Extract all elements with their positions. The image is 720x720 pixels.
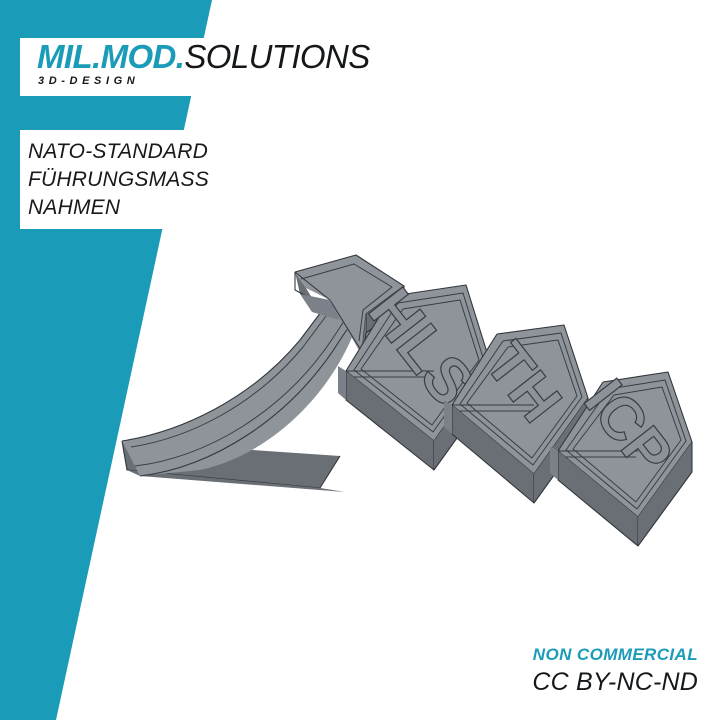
subtitle-line-3: NAHMEN [28, 194, 320, 222]
brand-logo-prefix: MIL.MOD. [37, 38, 184, 75]
logo-panel: MIL.MOD.SOLUTIONS 3D-DESIGN [20, 38, 368, 96]
subtitle-panel: NATO-STANDARD FÜHRUNGSMASS NAHMEN [20, 130, 320, 229]
licence-block: NON COMMERCIAL CC BY-NC-ND [532, 644, 698, 698]
licence-cc-code: CC BY-NC-ND [532, 667, 698, 698]
brand-logo-suffix: SOLUTIONS [184, 38, 369, 75]
subtitle-line-2: FÜHRUNGSMASS [28, 166, 320, 194]
brand-tagline: 3D-DESIGN [38, 75, 368, 87]
poster-canvas: MIL.MOD.SOLUTIONS 3D-DESIGN NATO-STANDAR… [0, 0, 720, 720]
subtitle-line-1: NATO-STANDARD [28, 138, 320, 166]
product-render: .top { fill:#8f949b; } .side { fill:#6a6… [0, 0, 720, 720]
licence-non-commercial: NON COMMERCIAL [532, 644, 698, 666]
brand-logo: MIL.MOD.SOLUTIONS [37, 38, 368, 76]
